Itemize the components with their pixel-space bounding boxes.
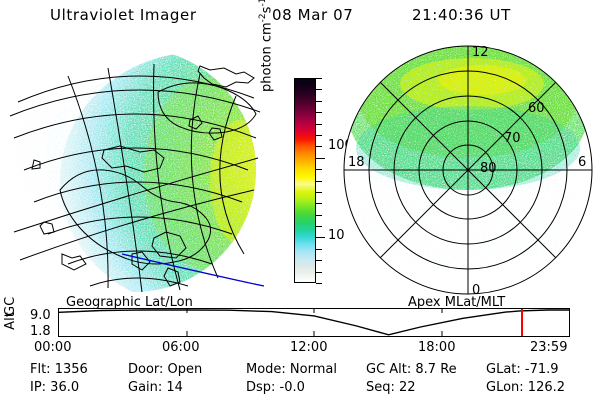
colorbar-tick: [316, 124, 322, 125]
status-gc-alt: GC Alt: 8.7 Re: [366, 362, 457, 377]
colorbar-tick: [316, 78, 322, 79]
time-label: 21:40:36 UT: [412, 6, 511, 24]
header: Ultraviolet Imager 08 Mar 07 21:40:36 UT: [0, 6, 600, 30]
instrument-title: Ultraviolet Imager: [50, 6, 197, 24]
colorbar-tick: [316, 192, 322, 193]
status-gain: Gain: 14: [128, 380, 183, 395]
colorbar-tick: [316, 135, 322, 136]
colorbar-tick: [316, 158, 325, 159]
auroral-emission-field: [4, 42, 266, 294]
orbit-y-axis-title-line2: Alt: [4, 312, 18, 330]
status-block: Flt: 1356 Door: Open Mode: Normal GC Alt…: [0, 362, 600, 400]
colorbar-tick: [316, 203, 322, 204]
colorbar-axis-title-exp2: -1: [258, 0, 268, 7]
status-glon: GLon: 126.2: [486, 380, 565, 395]
orbit-altitude-svg: [59, 309, 569, 336]
colorbar-tick: [316, 249, 322, 250]
colorbar-tick: [316, 226, 322, 227]
status-door: Door: Open: [128, 362, 202, 377]
colorbar-axis-title-mid: s: [259, 7, 274, 14]
colorbar-tick: [316, 181, 322, 182]
colorbar-tick: [316, 112, 322, 113]
colorbar-tick: [316, 260, 322, 261]
colorbar-axis-title-main: photon cm: [259, 22, 274, 92]
time-tick-1200: 12:00: [290, 340, 327, 355]
status-row-2: IP: 36.0 Gain: 14 Dsp: -0.0 Seq: 22 GLon…: [0, 380, 600, 398]
apex-polar-panel[interactable]: 12 18 6 0 60 70 80: [332, 40, 600, 298]
mlat-ring-60: 60: [528, 101, 545, 116]
colorbar-ticks: [316, 76, 326, 285]
colorbar-tick: [316, 237, 325, 238]
colorbar[interactable]: [294, 78, 316, 283]
apex-auroral-field: [332, 40, 600, 298]
status-seq: Seq: 22: [366, 380, 416, 395]
mlt-label-6: 6: [578, 155, 586, 170]
time-tick-1800: 18:00: [418, 340, 455, 355]
orbit-y-axis-title: GC Alt: [2, 300, 20, 328]
colorbar-tick: [316, 146, 322, 147]
status-row-1: Flt: 1356 Door: Open Mode: Normal GC Alt…: [0, 362, 600, 380]
polar-grid: [344, 46, 592, 294]
orbit-altitude-plot[interactable]: [58, 308, 570, 337]
time-tick-2359: 23:59: [530, 340, 567, 355]
status-dsp: Dsp: -0.0: [246, 380, 305, 395]
time-tick-0000: 00:00: [34, 340, 71, 355]
colorbar-tick: [316, 283, 322, 284]
apex-polar-svg: 12 18 6 0 60 70 80: [332, 40, 600, 298]
mlat-ring-80: 80: [480, 161, 497, 176]
colorbar-tick: [316, 169, 322, 170]
colorbar-tick: [316, 272, 322, 273]
mlt-label-18: 18: [348, 155, 365, 170]
status-glat: GLat: -71.9: [486, 362, 559, 377]
orbit-y-bottom-label: 1.8: [30, 324, 51, 339]
status-flight: Flt: 1356: [30, 362, 88, 377]
mlt-label-12: 12: [472, 45, 489, 60]
geographic-plot-svg: [4, 42, 266, 294]
uvi-viewer: Ultraviolet Imager 08 Mar 07 21:40:36 UT: [0, 0, 600, 400]
colorbar-tick: [316, 215, 322, 216]
colorbar-axis-title-exp1: -2: [258, 13, 268, 22]
status-mode: Mode: Normal: [246, 362, 337, 377]
geographic-image-panel[interactable]: [4, 42, 266, 294]
date-label: 08 Mar 07: [272, 6, 353, 24]
time-tick-0600: 06:00: [162, 340, 199, 355]
colorbar-tick: [316, 89, 322, 90]
colorbar-gradient: [295, 79, 315, 282]
colorbar-axis-title: photon cm-2s-1: [258, 0, 274, 92]
mlat-ring-70: 70: [504, 131, 521, 146]
current-time-marker: [521, 309, 523, 336]
orbit-y-top-label: 9.0: [30, 308, 51, 323]
status-ip: IP: 36.0: [30, 380, 79, 395]
colorbar-tick: [316, 101, 322, 102]
